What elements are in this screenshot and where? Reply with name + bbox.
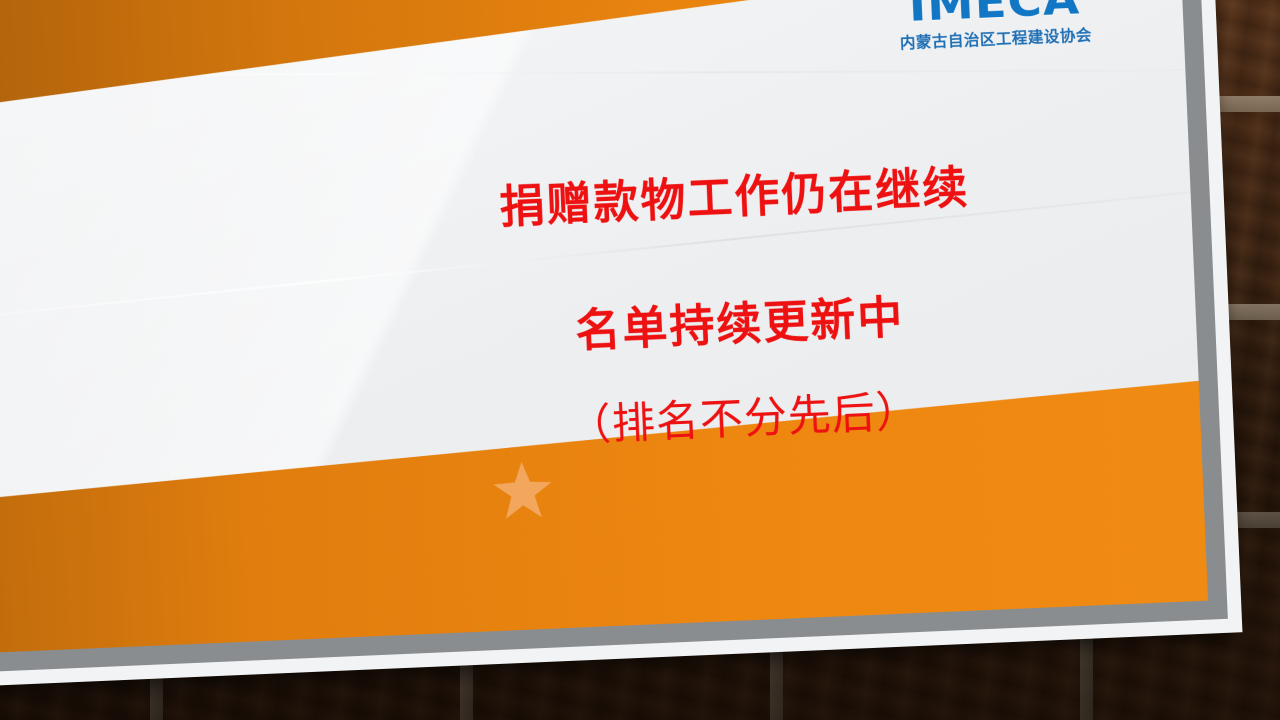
logo-subtitle: 内蒙古自治区工程建设协会 [900,28,1093,52]
organization-logo: IMECA 内蒙古自治区工程建设协会 [897,0,1092,52]
card-white-frame: IMECA 内蒙古自治区工程建设协会 捐赠款物工作仍在继续 名单持续更新中 （排… [0,0,1242,687]
headline-block: 捐赠款物工作仍在继续 名单持续更新中 （排名不分先后） [373,145,1105,462]
card-content-surface: IMECA 内蒙古自治区工程建设协会 捐赠款物工作仍在继续 名单持续更新中 （排… [0,0,1208,653]
slide-stage: IMECA 内蒙古自治区工程建设协会 捐赠款物工作仍在继续 名单持续更新中 （排… [0,0,1280,720]
headline-secondary: 名单持续更新中 [379,272,1101,368]
slide-card: IMECA 内蒙古自治区工程建设协会 捐赠款物工作仍在继续 名单持续更新中 （排… [0,0,1242,687]
logo-wordmark: IMECA [892,0,1097,30]
card-gray-rule: IMECA 内蒙古自治区工程建设协会 捐赠款物工作仍在继续 名单持续更新中 （排… [0,0,1228,673]
headline-primary: 捐赠款物工作仍在继续 [373,145,1095,241]
